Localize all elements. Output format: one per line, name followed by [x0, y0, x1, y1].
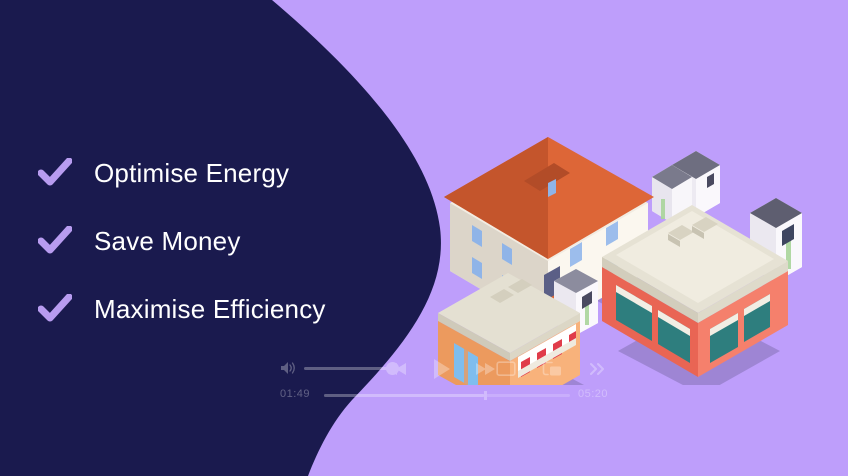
benefits-list: Optimise Energy Save Money Maximise Effi…	[38, 150, 408, 354]
isometric-buildings-illustration	[420, 85, 848, 385]
player-top-row	[278, 355, 608, 381]
check-icon	[38, 158, 72, 188]
time-elapsed: 01:49	[280, 388, 310, 400]
play-icon[interactable]	[430, 357, 452, 381]
list-item-label: Maximise Efficiency	[94, 294, 326, 325]
transport-controls	[386, 357, 496, 381]
fast-forward-icon[interactable]	[474, 361, 496, 377]
time-total: 05:20	[578, 388, 608, 400]
list-item-label: Optimise Energy	[94, 158, 289, 189]
list-item: Save Money	[38, 218, 408, 264]
progress-bar-playhead[interactable]	[484, 391, 487, 400]
check-icon	[38, 294, 72, 324]
picture-in-picture-icon[interactable]	[542, 361, 562, 378]
list-item: Optimise Energy	[38, 150, 408, 196]
check-icon	[38, 226, 72, 256]
progress-bar-track[interactable]	[324, 394, 570, 397]
volume-icon[interactable]	[280, 360, 298, 376]
rewind-icon[interactable]	[386, 361, 408, 377]
volume-slider-track[interactable]	[304, 367, 394, 370]
list-item-label: Save Money	[94, 226, 241, 257]
cast-icon[interactable]	[496, 361, 516, 378]
slide-canvas: Optimise Energy Save Money Maximise Effi…	[0, 0, 848, 476]
chevrons-right-icon[interactable]	[588, 361, 608, 377]
player-right-controls	[496, 358, 608, 380]
list-item: Maximise Efficiency	[38, 286, 408, 332]
player-bottom-row: 01:49 05:20	[278, 385, 608, 407]
video-player-controls[interactable]: 01:49 05:20	[278, 355, 608, 411]
progress-bar-fill	[324, 394, 484, 397]
